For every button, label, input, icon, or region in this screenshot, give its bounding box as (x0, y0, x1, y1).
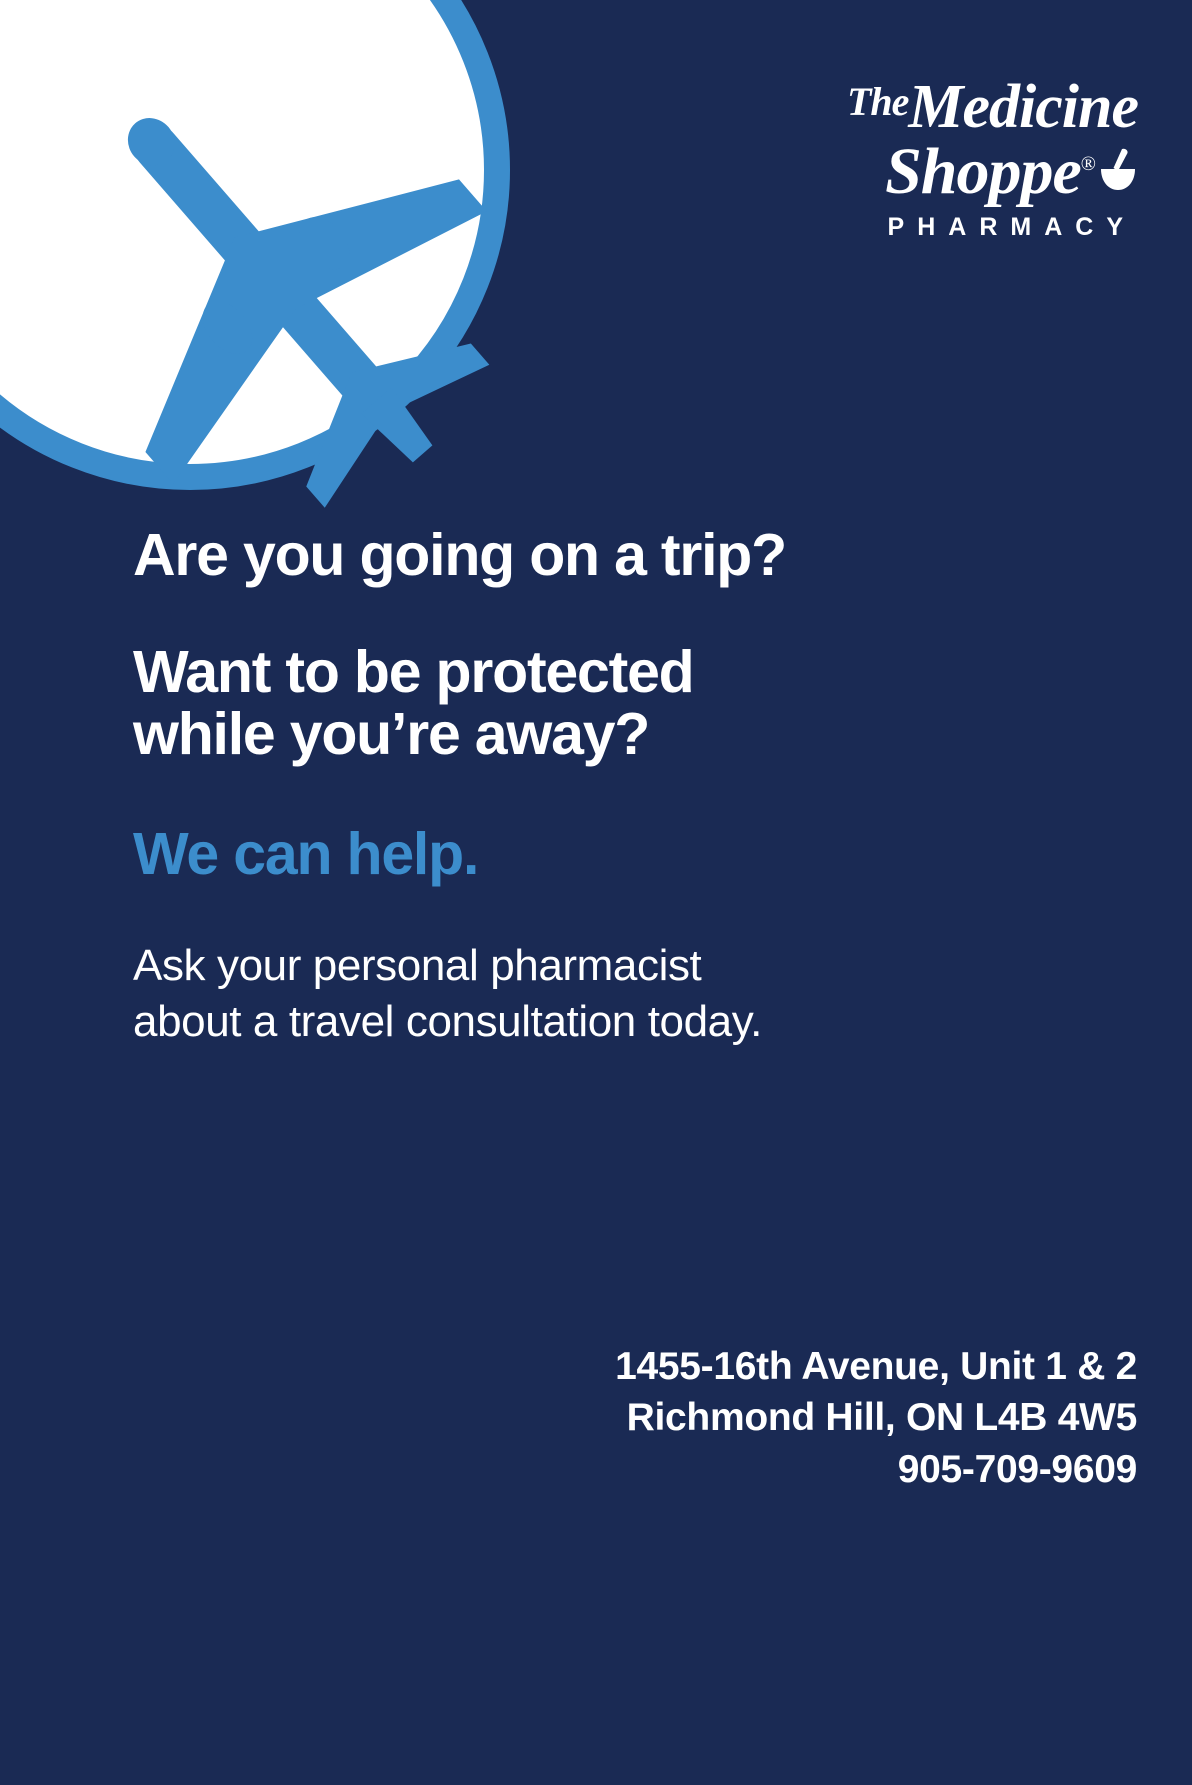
logo-pharmacy-label: PHARMACY (708, 213, 1138, 242)
brand-logo: TheMedicine Shoppe® PHARMACY (708, 78, 1138, 242)
headline-secondary: Want to be protected while you’re away? (133, 642, 1033, 766)
body-copy: Ask your personal pharmacist about a tra… (133, 938, 1033, 1051)
headline-primary: Are you going on a trip? (133, 525, 1033, 587)
logo-shoppe-line: Shoppe® (708, 139, 1138, 205)
airplane-badge-circle (0, 0, 510, 490)
phone-number[interactable]: 905-709-9609 (615, 1444, 1137, 1495)
mortar-and-pestle-icon (1098, 147, 1138, 193)
accent-callout: We can help. (133, 824, 1033, 886)
logo-the: The (847, 79, 908, 124)
registered-trademark-icon: ® (1081, 153, 1096, 175)
logo-medicine: Medicine (908, 73, 1138, 141)
contact-block: 1455-16th Avenue, Unit 1 & 2 Richmond Hi… (615, 1341, 1137, 1495)
poster-canvas: TheMedicine Shoppe® PHARMACY Are you goi… (0, 0, 1192, 1785)
logo-shoppe: Shoppe (885, 135, 1081, 208)
address-line-1: 1455-16th Avenue, Unit 1 & 2 (615, 1341, 1137, 1392)
address-line-2: Richmond Hill, ON L4B 4W5 (615, 1392, 1137, 1443)
message-block: Are you going on a trip? Want to be prot… (133, 525, 1033, 1050)
logo-medicine-line: TheMedicine (708, 78, 1138, 137)
